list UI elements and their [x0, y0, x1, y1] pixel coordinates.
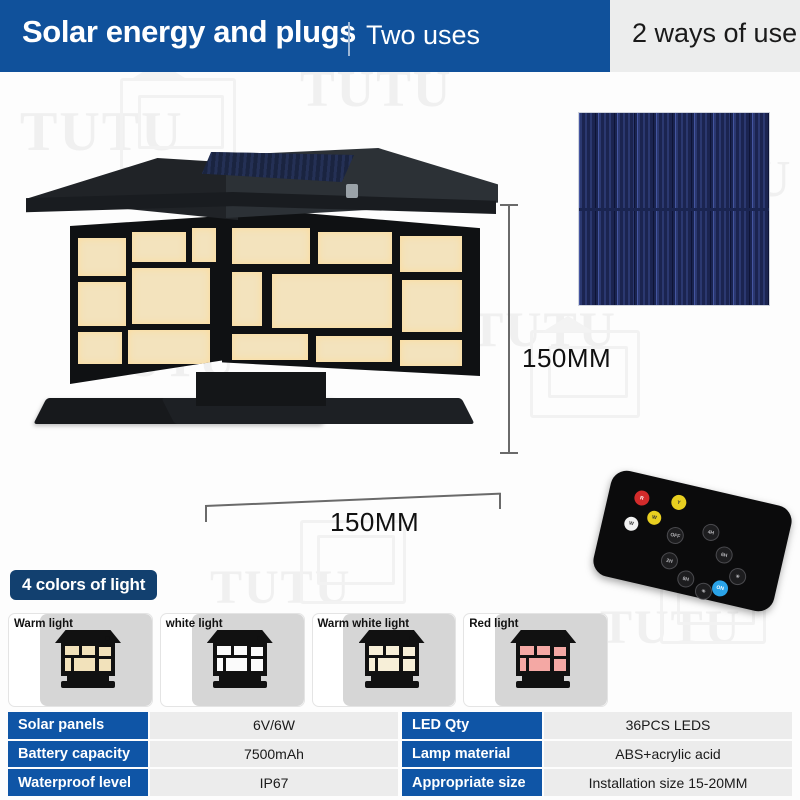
table-row: Battery capacity 7500mAh — [8, 741, 398, 768]
color-swatch-red-light[interactable]: Red light — [463, 613, 608, 707]
spec-label: Battery capacity — [8, 741, 148, 768]
spec-value: ABS+acrylic acid — [544, 741, 792, 768]
table-row: Solar panels 6V/6W — [8, 712, 398, 739]
mini-lamp-icon — [53, 630, 123, 692]
lamp-switch-knob — [346, 184, 358, 198]
header-banner: Solar energy and plugs Two uses 2 ways o… — [0, 0, 800, 72]
solar-panel-photo — [578, 112, 770, 306]
specification-table: Solar panels 6V/6W Battery capacity 7500… — [8, 712, 792, 796]
spec-label: Waterproof level — [8, 769, 148, 796]
blue-on-button[interactable]: ON — [710, 579, 729, 598]
title-divider — [348, 22, 350, 56]
lamp-face-right — [222, 206, 480, 376]
table-row: Appropriate size Installation size 15-20… — [402, 769, 792, 796]
lamp-face-left — [70, 216, 222, 384]
dimension-cap — [500, 204, 518, 206]
warm-color-button[interactable]: W — [646, 509, 663, 526]
mini-lamp-icon — [357, 630, 427, 692]
timer-2h-button[interactable]: 2H — [659, 551, 679, 571]
product-photo-main-lamp — [18, 140, 508, 480]
spec-value: 36PCS LEDS — [544, 712, 792, 739]
spec-table-right: LED Qty 36PCS LEDS Lamp material ABS+acr… — [402, 712, 792, 796]
dimension-height-label: 150MM — [522, 343, 611, 374]
lamp-roof — [26, 140, 496, 220]
spec-label: Appropriate size — [402, 769, 542, 796]
solar-panel-row — [579, 113, 769, 208]
spec-value: 6V/6W — [150, 712, 398, 739]
red-color-button[interactable]: R — [633, 489, 651, 507]
table-row: Lamp material ABS+acrylic acid — [402, 741, 792, 768]
spec-value: 7500mAh — [150, 741, 398, 768]
off-button[interactable]: OFF — [665, 525, 685, 545]
spec-table-left: Solar panels 6V/6W Battery capacity 7500… — [8, 712, 398, 796]
mini-lamp-icon — [508, 630, 578, 692]
timer-4h-button[interactable]: 4H — [701, 522, 721, 542]
colors-section-badge: 4 colors of light — [10, 570, 157, 600]
white-color-button[interactable]: W — [623, 515, 640, 532]
table-row: LED Qty 36PCS LEDS — [402, 712, 792, 739]
header-right-caption: 2 ways of use — [632, 18, 797, 49]
dimension-line-vertical — [508, 205, 510, 453]
table-row: Waterproof level IP67 — [8, 769, 398, 796]
page-subtitle: Two uses — [366, 20, 480, 51]
swatch-label: Red light — [469, 618, 518, 630]
remote-body: R Y W W OFF 4H 6H ☀ 2H 8H ✳ ON — [590, 468, 795, 615]
product-infographic: TUTU TUTU TUTU TUTU TUTU TUTU TUTU Solar… — [0, 0, 800, 800]
dimension-width-label: 150MM — [330, 507, 419, 538]
swatch-label: Warm light — [14, 618, 73, 630]
brightness-button[interactable]: ☀ — [727, 566, 747, 586]
spec-label: Solar panels — [8, 712, 148, 739]
spec-label: LED Qty — [402, 712, 542, 739]
timer-8h-button[interactable]: 8H — [676, 569, 696, 589]
page-title: Solar energy and plugs — [22, 14, 356, 50]
lamp-body — [70, 206, 480, 384]
spec-value: IP67 — [150, 769, 398, 796]
spec-label: Lamp material — [402, 741, 542, 768]
dimension-line-horizontal — [205, 493, 501, 507]
watermark-text: TUTU — [210, 560, 351, 615]
solar-panel-row — [579, 211, 769, 306]
timer-6h-button[interactable]: 6H — [714, 545, 734, 565]
remote-control-photo: R Y W W OFF 4H 6H ☀ 2H 8H ✳ ON — [600, 487, 785, 612]
dimension-cap — [499, 493, 501, 509]
spec-value: Installation size 15-20MM — [544, 769, 792, 796]
yellow-color-button[interactable]: Y — [670, 493, 688, 511]
swatch-label: Warm white light — [318, 618, 410, 630]
mini-lamp-icon — [205, 630, 275, 692]
color-swatch-row: Warm light white light — [8, 613, 608, 705]
swatch-label: white light — [166, 618, 223, 630]
color-swatch-warm-light[interactable]: Warm light — [8, 613, 153, 707]
dimension-cap — [205, 506, 207, 522]
color-swatch-warm-white-light[interactable]: Warm white light — [312, 613, 457, 707]
mode-button[interactable]: ✳ — [693, 581, 713, 601]
watermark-lamp-icon — [542, 316, 594, 332]
color-swatch-white-light[interactable]: white light — [160, 613, 305, 707]
dimension-cap — [500, 452, 518, 454]
